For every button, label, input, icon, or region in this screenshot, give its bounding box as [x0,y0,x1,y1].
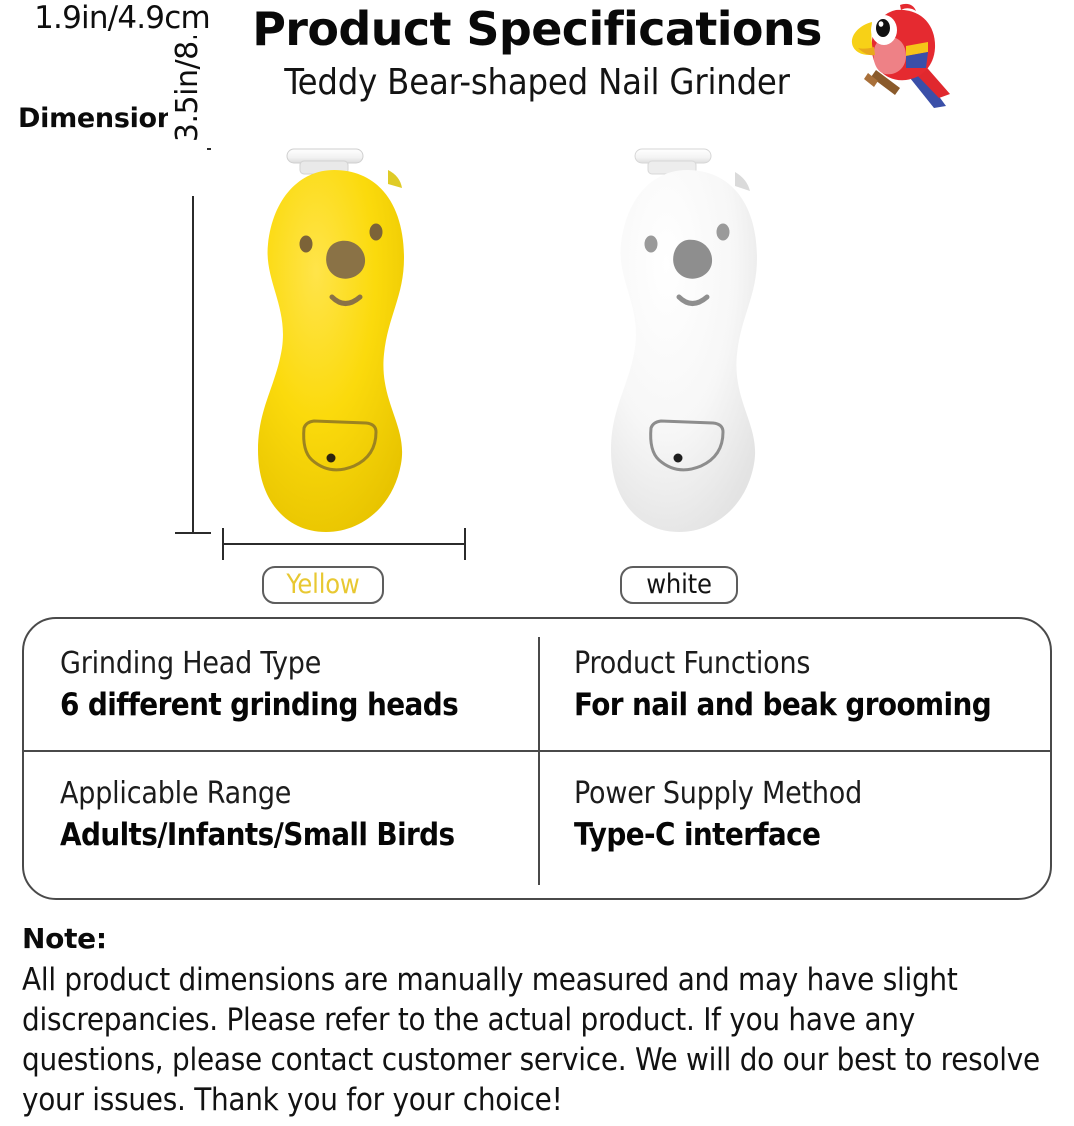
spec-value: Type-C interface [574,813,1044,857]
spec-label: Grinding Head Type [60,645,530,683]
spec-cell-power-supply-method: Power Supply Method Type-C interface [574,775,1044,857]
spec-table-divider-vertical [538,637,540,885]
color-badge-yellow[interactable]: Yellow [262,566,384,604]
height-dimension-stem [192,148,194,534]
spec-label: Power Supply Method [574,775,1044,813]
width-dimension-value: 1.9in/4.9cm [12,0,232,36]
width-dimension-tick-left [222,528,224,560]
spec-value: 6 different grinding heads [60,683,530,727]
spec-cell-applicable-range: Applicable Range Adults/Infants/Small Bi… [60,775,530,857]
product-image-yellow [238,140,438,540]
spec-label: Applicable Range [60,775,530,813]
spec-table: Grinding Head Type 6 different grinding … [22,617,1052,900]
width-dimension-tick-right [464,528,466,560]
product-image-white [595,140,795,540]
parrot-icon [838,2,956,114]
spec-cell-product-functions: Product Functions For nail and beak groo… [574,645,1044,727]
spec-label: Product Functions [574,645,1044,683]
note-section: Note: All product dimensions are manuall… [22,920,1058,1120]
dimensions-section-label: Dimensions [18,103,192,134]
spec-value: For nail and beak grooming [574,683,1044,727]
note-body: All product dimensions are manually meas… [22,960,1058,1120]
height-dimension-tick-bottom [175,532,211,534]
color-badge-white[interactable]: white [620,566,738,604]
spec-cell-grinding-head-type: Grinding Head Type 6 different grinding … [60,645,530,727]
height-dimension-line [170,148,216,534]
note-heading: Note: [22,920,1058,958]
width-dimension-stem [222,543,466,545]
spec-table-divider-horizontal [23,750,1051,752]
product-spec-infographic: Product Specifications Teddy Bear-shaped… [0,0,1074,1126]
spec-value: Adults/Infants/Small Birds [60,813,530,857]
